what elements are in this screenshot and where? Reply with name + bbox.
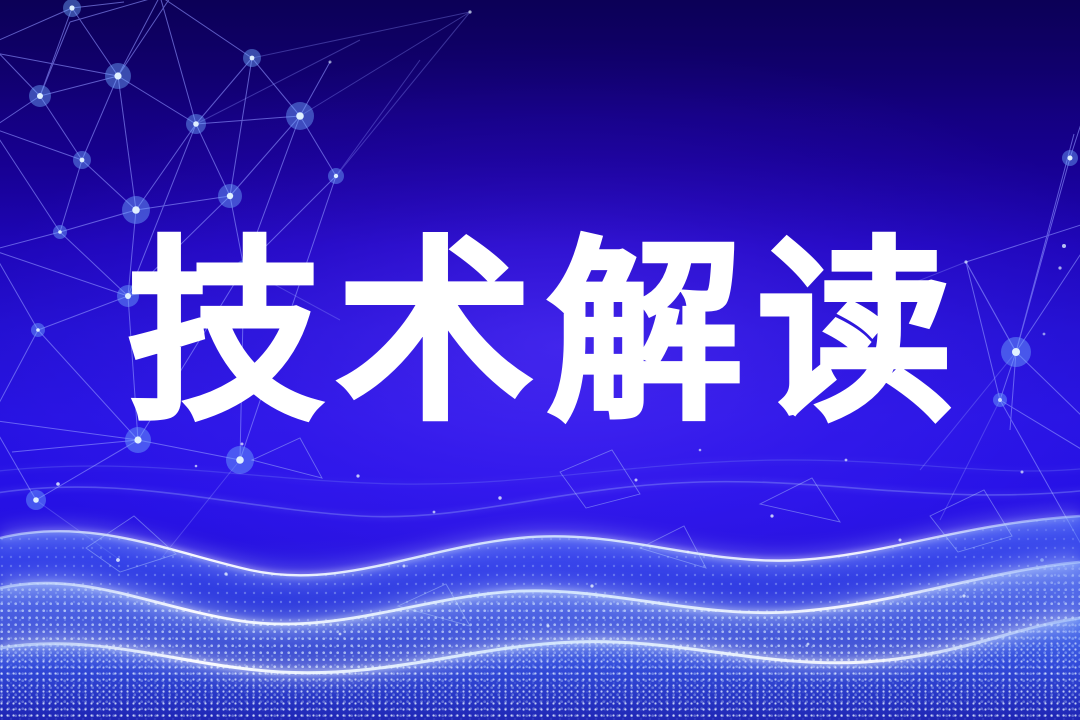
particle-wave-mesh — [0, 420, 1080, 720]
wave-streaks — [0, 460, 1080, 517]
banner-canvas: 技术解读 — [0, 0, 1080, 720]
